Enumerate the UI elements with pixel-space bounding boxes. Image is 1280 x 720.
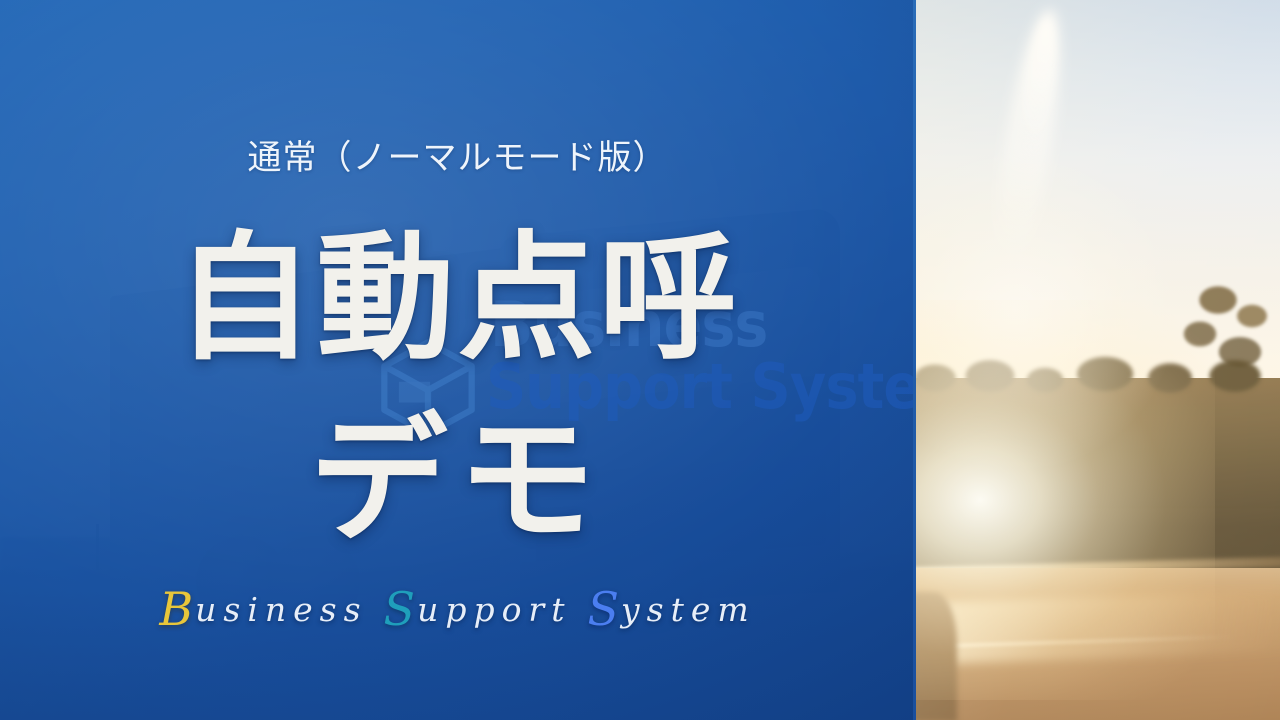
brand-initial-s-system: S [587,582,621,636]
title-line-2: デモ [0,390,915,572]
brand-lockup: BusinessSupportSystem [0,578,915,632]
sunset-photo-pane [915,0,1280,720]
title-panel: Business Support System 通常（ノーマルモード版） 自動点… [0,0,915,720]
brand-initial-s-support: S [384,582,418,636]
photo-road-shine [915,589,1280,665]
brand-initial-b: B [159,582,195,636]
brand-word-support: upport [417,590,571,629]
panel-divider [913,0,916,720]
slide-canvas: Business Support System 通常（ノーマルモード版） 自動点… [0,0,1280,720]
slide-subtitle: 通常（ノーマルモード版） [0,130,915,179]
brand-word-business: usiness [195,590,367,629]
brand-word-system: ystem [621,590,756,629]
title-line-1: 自動点呼 [0,208,915,390]
page-title: 自動点呼 デモ [0,208,915,572]
photo-road-shoulder [915,592,957,720]
